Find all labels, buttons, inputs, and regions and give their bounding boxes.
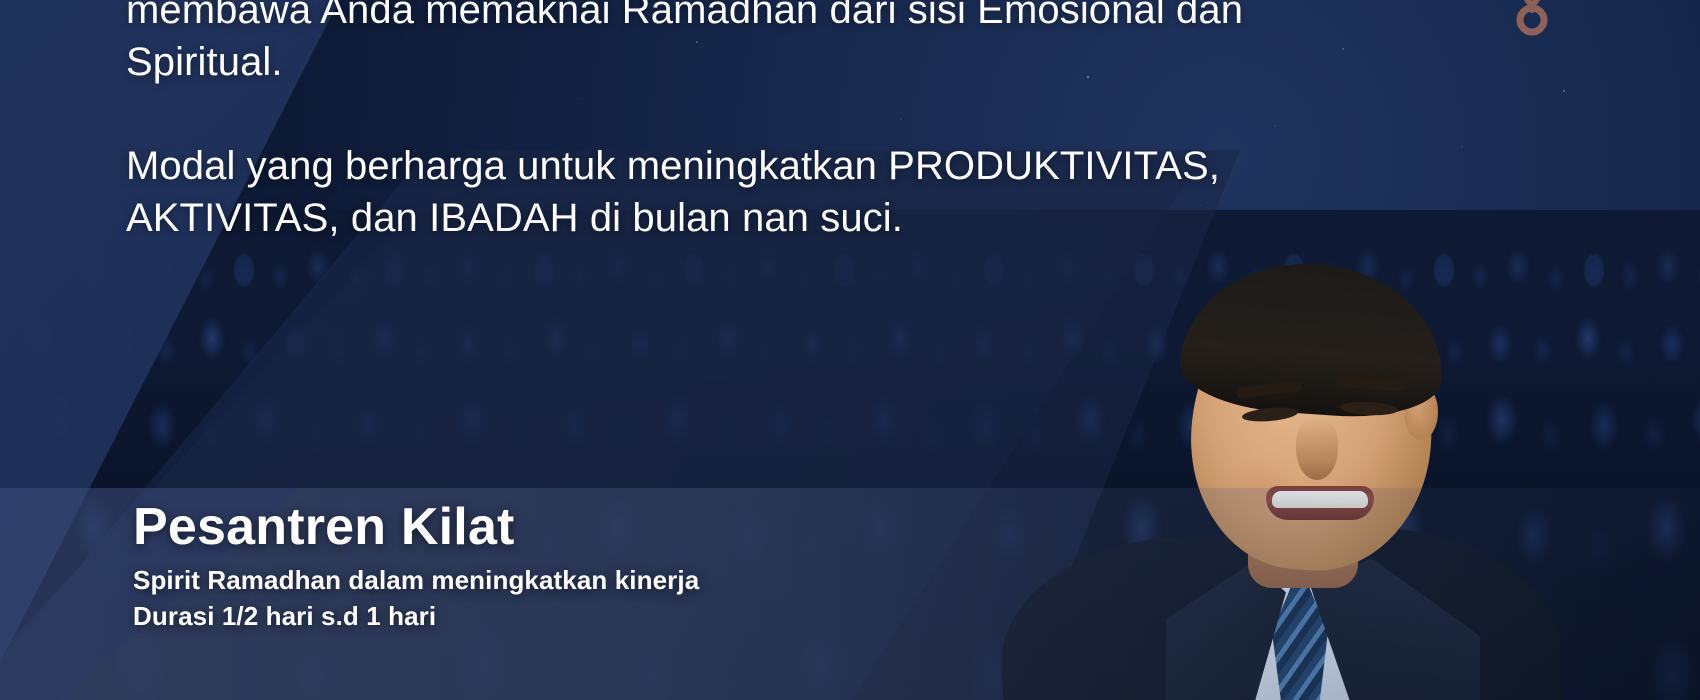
body-copy: membawa Anda memaknai Ramadhan dari sisi… xyxy=(126,0,1346,244)
crescent-hook-ornament xyxy=(1494,0,1570,40)
program-duration: Durasi 1/2 hari s.d 1 hari xyxy=(133,599,1033,633)
program-title: Pesantren Kilat xyxy=(133,497,1033,557)
program-subtitle: Spirit Ramadhan dalam meningkatkan kiner… xyxy=(133,563,1033,597)
body-line-ibadah: AKTIVITAS, dan IBADAH di bulan nan suci. xyxy=(126,192,1346,244)
paragraph-spacer xyxy=(126,88,1346,140)
title-block: Pesantren Kilat Spirit Ramadhan dalam me… xyxy=(133,497,1033,633)
presentation-slide: membawa Anda memaknai Ramadhan dari sisi… xyxy=(0,0,1700,700)
nose xyxy=(1296,418,1338,480)
hair xyxy=(1177,255,1449,423)
body-line-spiritual: Spiritual. xyxy=(126,36,1346,88)
body-line-clipped: membawa Anda memaknai Ramadhan dari sisi… xyxy=(126,0,1346,36)
body-line-produktivitas: Modal yang berharga untuk meningkatkan P… xyxy=(126,140,1346,192)
